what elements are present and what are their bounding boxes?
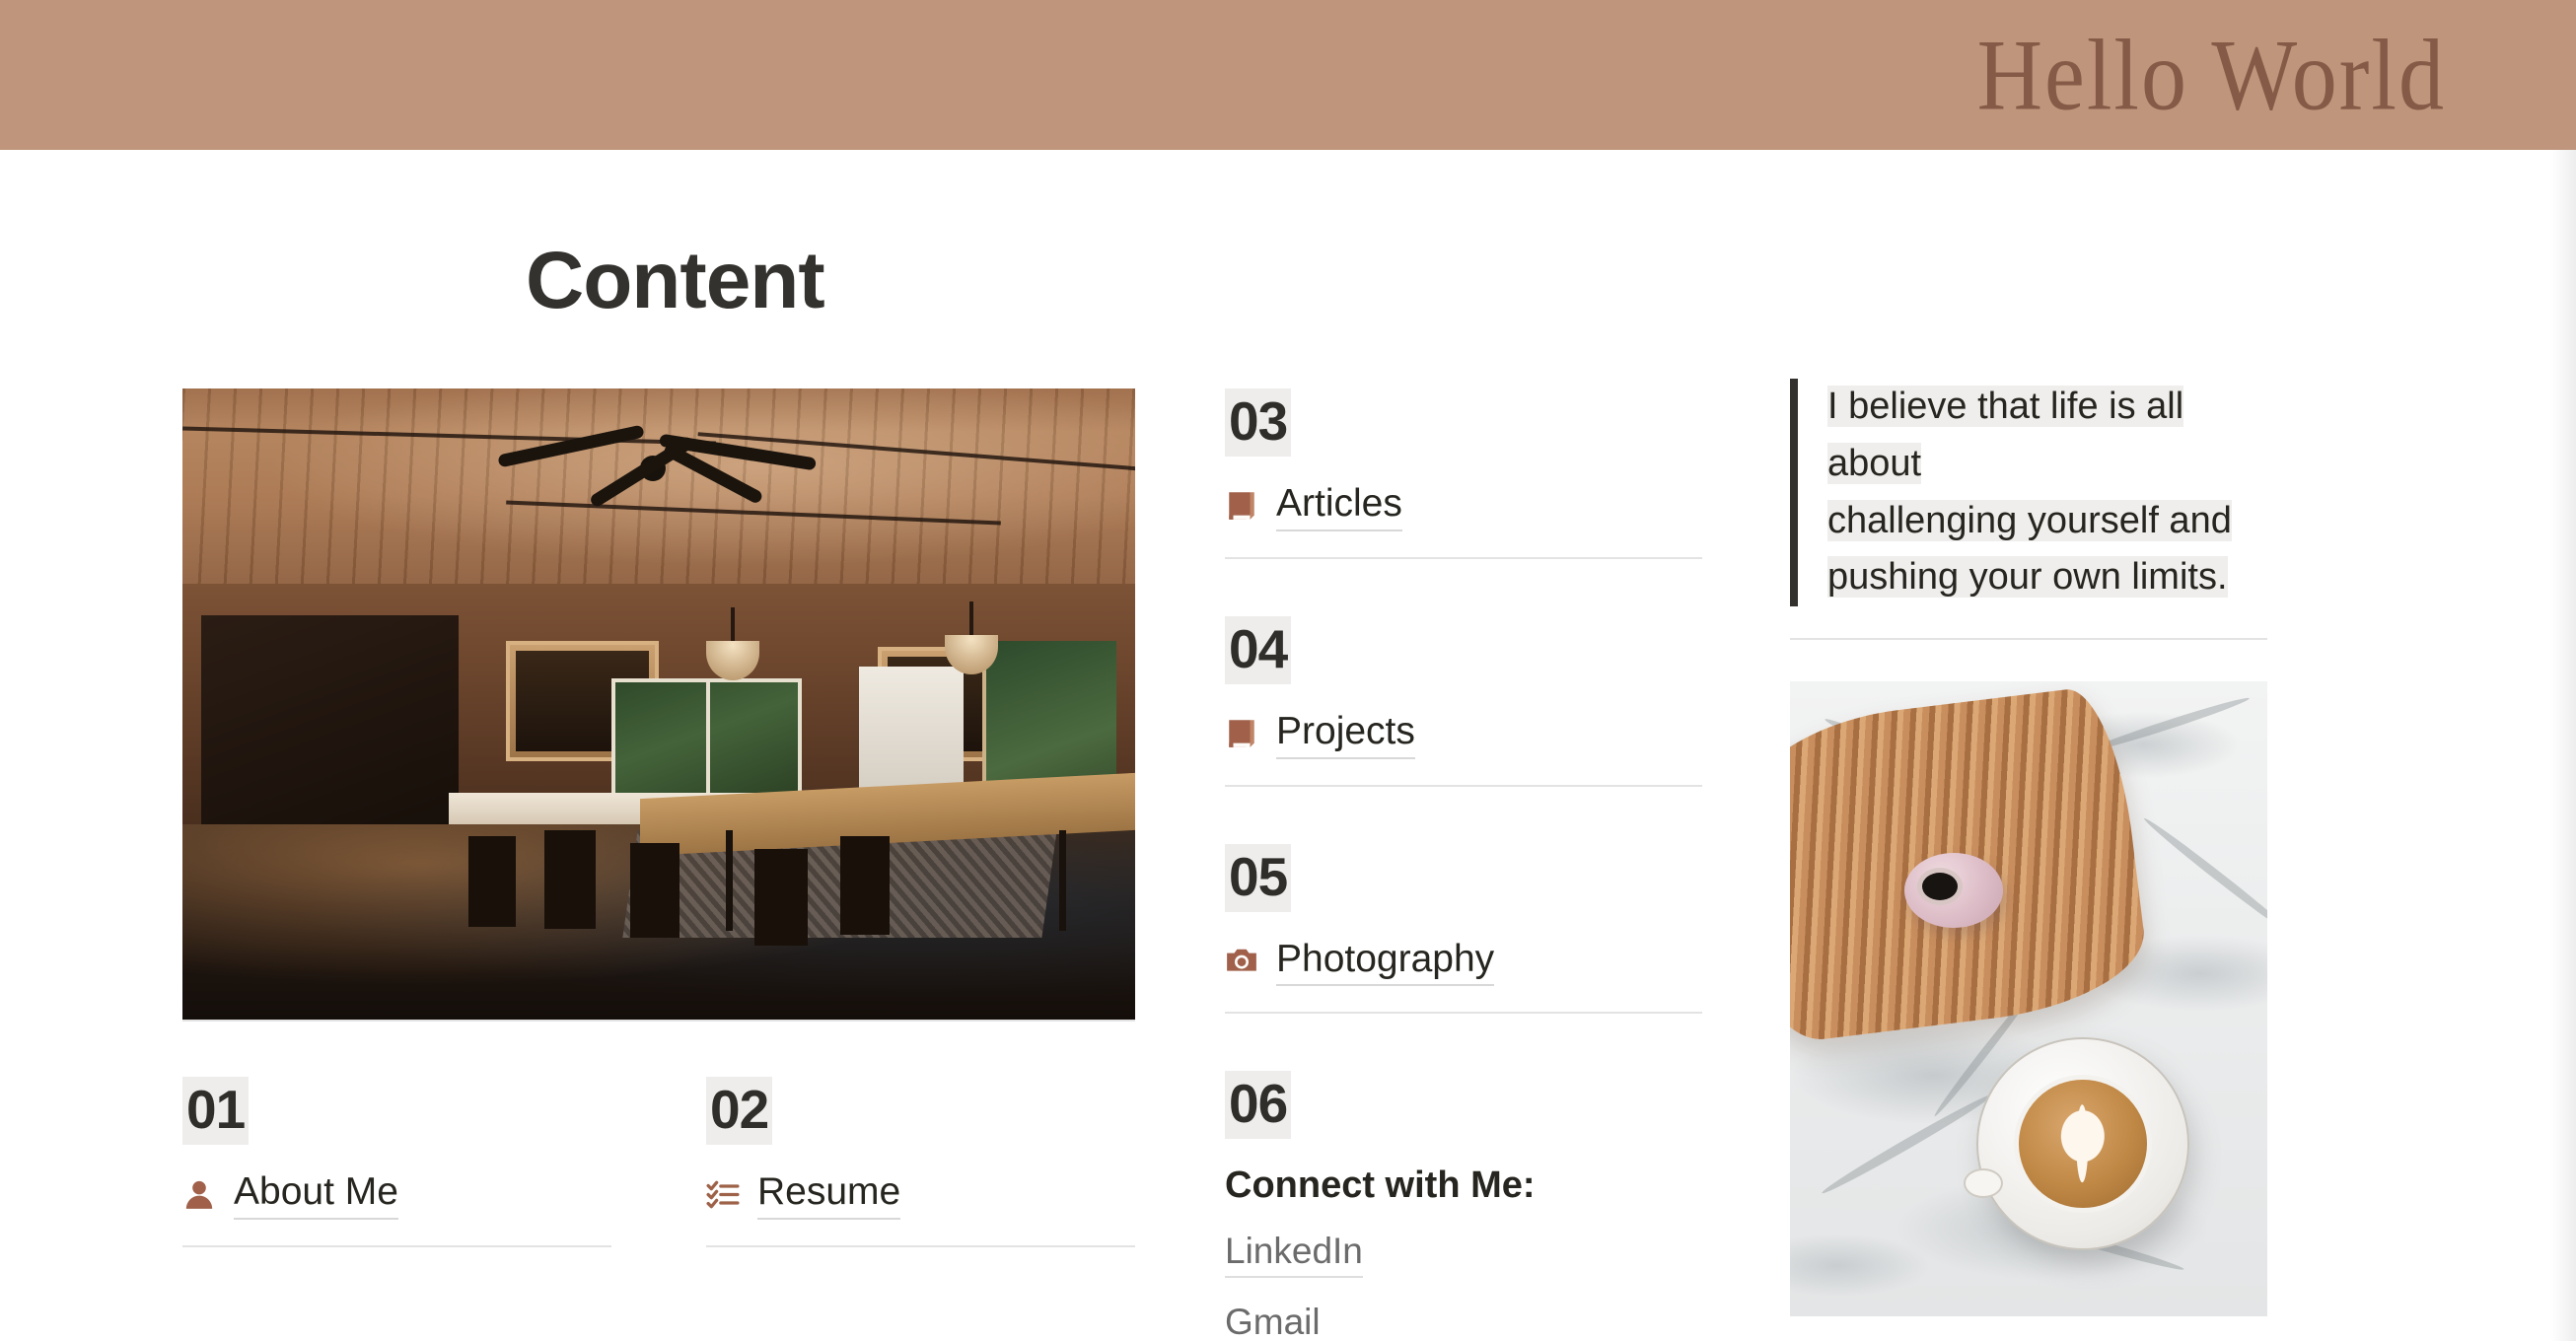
site-title: Hello World — [1977, 24, 2576, 125]
quote-line-1: I believe that life is all about — [1827, 386, 2183, 484]
quote-block: I believe that life is all aboutchalleng… — [1790, 379, 2267, 606]
about-me-label: About Me — [234, 1168, 398, 1220]
articles-link[interactable]: Articles — [1225, 480, 1702, 531]
projects-label: Projects — [1276, 708, 1415, 759]
checklist-icon — [706, 1177, 740, 1211]
header-banner: Hello World — [0, 0, 2576, 150]
left-entries: 01 About Me 02 — [182, 1077, 1135, 1247]
gmail-link[interactable]: Gmail — [1225, 1300, 1321, 1341]
left-column: 01 About Me 02 — [182, 388, 1135, 1247]
page-root: Hello World Content — [0, 0, 2576, 1341]
entry-resume[interactable]: 02 Resume — [706, 1077, 1135, 1247]
closed-book-icon — [1225, 717, 1258, 750]
entry-projects[interactable]: 04 Projects — [1225, 616, 1702, 787]
entry-articles[interactable]: 03 Articles — [1225, 388, 1702, 559]
middle-column: 03 Articles 04 — [1225, 388, 1702, 1341]
entry-photography[interactable]: 05 Photography — [1225, 844, 1702, 1015]
left-photo-divider — [182, 1020, 1135, 1022]
closed-book-icon — [1225, 489, 1258, 523]
linkedin-link[interactable]: LinkedIn — [1225, 1229, 1363, 1277]
quote-divider — [1790, 638, 2267, 640]
photography-label: Photography — [1276, 936, 1494, 987]
projects-link[interactable]: Projects — [1225, 708, 1702, 759]
kitchen-photo — [182, 388, 1135, 1020]
scrollbar-gutter[interactable] — [2550, 150, 2576, 1341]
coffee-photo — [1790, 681, 2267, 1316]
resume-label: Resume — [757, 1168, 900, 1220]
quote-line-2: challenging yourself and — [1827, 500, 2232, 541]
entry-number-04: 04 — [1225, 616, 1291, 684]
about-me-link[interactable]: About Me — [182, 1168, 611, 1220]
entry-number-05: 05 — [1225, 844, 1291, 912]
articles-label: Articles — [1276, 480, 1402, 531]
photography-link[interactable]: Photography — [1225, 936, 1702, 987]
entry-about-me[interactable]: 01 About Me — [182, 1077, 611, 1247]
quote-text: I believe that life is all aboutchalleng… — [1827, 379, 2267, 606]
right-column: I believe that life is all aboutchalleng… — [1790, 379, 2267, 1316]
about-me-divider — [182, 1245, 611, 1247]
entry-number-06: 06 — [1225, 1071, 1291, 1139]
entry-number-03: 03 — [1225, 388, 1291, 457]
camera-icon — [1225, 944, 1258, 977]
resume-link[interactable]: Resume — [706, 1168, 1135, 1220]
person-bust-icon — [182, 1177, 216, 1211]
resume-divider — [706, 1245, 1135, 1247]
page-title: Content — [526, 237, 824, 325]
entry-number-01: 01 — [182, 1077, 249, 1145]
entry-connect: 06 Connect with Me: LinkedIn Gmail — [1225, 1071, 1702, 1341]
entry-number-02: 02 — [706, 1077, 772, 1145]
connect-heading: Connect with Me: — [1225, 1165, 1702, 1207]
quote-line-3: pushing your own limits. — [1827, 556, 2228, 598]
